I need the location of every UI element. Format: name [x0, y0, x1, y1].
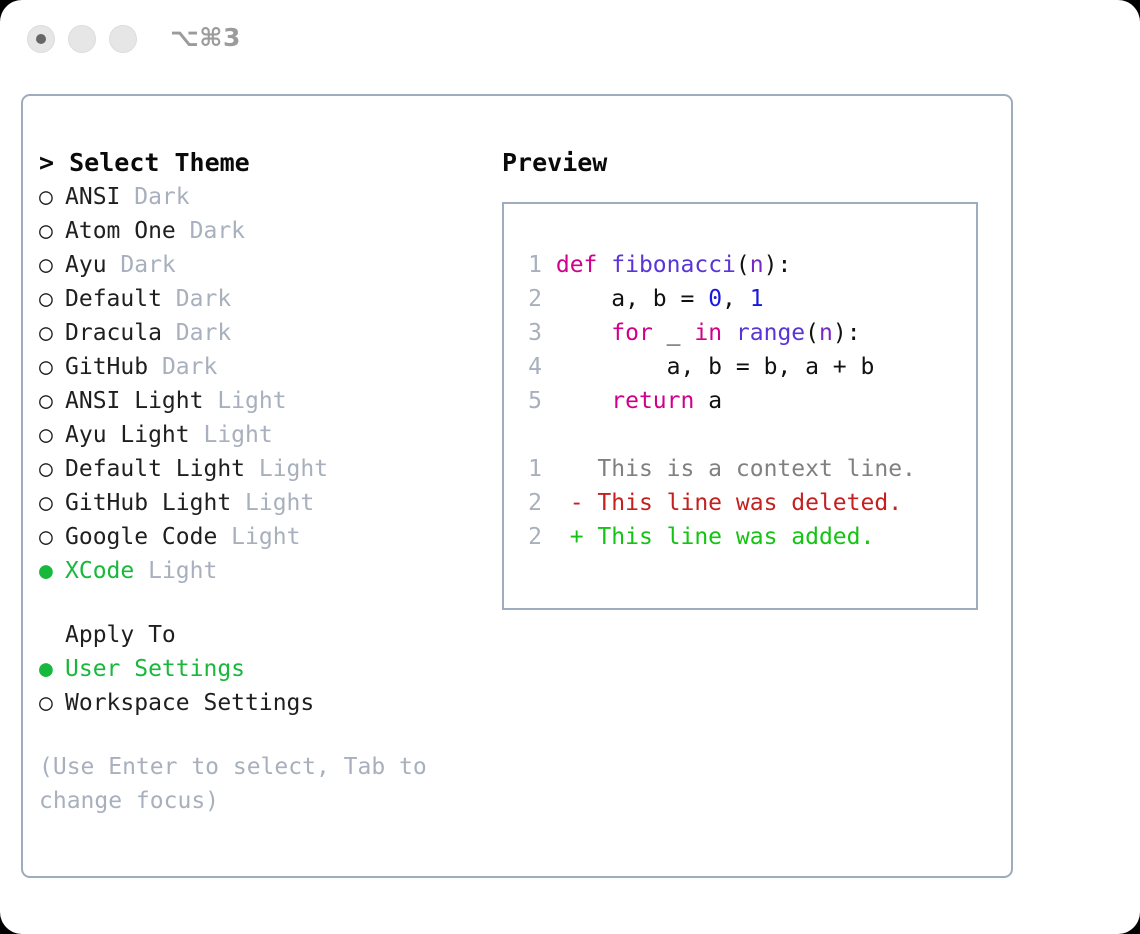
theme-option-default[interactable]: ○Default Dark	[39, 282, 499, 316]
diff-text: This line was added.	[597, 524, 874, 550]
gutter-space	[542, 524, 570, 550]
theme-option-label: Google Code	[65, 520, 217, 554]
radio-unselected-icon: ○	[39, 214, 65, 248]
theme-option-label: Atom One	[65, 214, 176, 248]
code-token: 0	[708, 286, 722, 312]
diff-text: This line was deleted.	[597, 490, 902, 516]
theme-option-xcode[interactable]: ●XCode Light	[39, 554, 499, 588]
theme-option-variant-tag: Light	[231, 486, 314, 520]
radio-selected-icon: ●	[39, 652, 65, 686]
theme-option-variant-tag: Light	[245, 452, 328, 486]
line-number: 1	[520, 452, 542, 486]
theme-option-variant-tag: Dark	[162, 316, 231, 350]
theme-option-label: ANSI	[65, 180, 120, 214]
theme-option-ansi[interactable]: ○ANSI Dark	[39, 180, 499, 214]
keyboard-hint: (Use Enter to select, Tab to change focu…	[39, 750, 439, 818]
radio-unselected-icon: ○	[39, 486, 65, 520]
window-controls	[27, 25, 137, 53]
code-token	[597, 252, 611, 278]
apply-to-option-label: Workspace Settings	[65, 686, 314, 720]
radio-unselected-icon: ○	[39, 384, 65, 418]
code-line: 5 return a	[520, 384, 970, 418]
diff-line-del: 2 - This line was deleted.	[520, 486, 970, 520]
theme-option-label: Ayu	[65, 248, 107, 282]
apply-to-option-user-settings[interactable]: ●User Settings	[39, 652, 499, 686]
heading-text: Select Theme	[69, 148, 250, 177]
radio-unselected-icon: ○	[39, 350, 65, 384]
keyboard-shortcut-label: ⌥⌘3	[170, 23, 241, 52]
theme-option-ansi-light[interactable]: ○ANSI Light Light	[39, 384, 499, 418]
code-line: 1 def fibonacci(n):	[520, 248, 970, 282]
code-line: 4 a, b = b, a + b	[520, 350, 970, 384]
code-token: ,	[722, 286, 750, 312]
code-token: return	[611, 388, 694, 414]
line-number: 1	[520, 248, 542, 282]
theme-option-variant-tag: Light	[203, 384, 286, 418]
window-button-close[interactable]	[27, 25, 55, 53]
apply-to-heading-indent: ○	[39, 618, 65, 652]
code-token: def	[556, 252, 598, 278]
theme-option-label: GitHub	[65, 350, 148, 384]
code-sample: 1 def fibonacci(n):2 a, b = 0, 13 for _ …	[520, 248, 970, 418]
apply-to-heading: ○Apply To	[39, 618, 499, 652]
code-token: range	[736, 320, 805, 346]
gutter-space	[542, 388, 556, 414]
preview-heading: Preview	[502, 146, 1002, 180]
theme-option-variant-tag: Light	[217, 520, 300, 554]
theme-option-label: XCode	[65, 554, 134, 588]
gutter-space	[542, 320, 556, 346]
theme-option-variant-tag: Dark	[120, 180, 189, 214]
window-button-maximize[interactable]	[109, 25, 137, 53]
line-number: 2	[520, 486, 542, 520]
theme-option-ayu[interactable]: ○Ayu Dark	[39, 248, 499, 282]
gutter-space	[542, 286, 556, 312]
theme-option-variant-tag: Dark	[148, 350, 217, 384]
theme-option-variant-tag: Dark	[162, 282, 231, 316]
code-token: for	[611, 320, 653, 346]
gutter-space	[542, 490, 570, 516]
code-line: 2 a, b = 0, 1	[520, 282, 970, 316]
theme-option-variant-tag: Light	[190, 418, 273, 452]
select-theme-heading: > Select Theme	[39, 146, 499, 180]
code-token	[722, 320, 736, 346]
diff-text: This is a context line.	[597, 456, 916, 482]
gutter-space	[542, 252, 556, 278]
code-token: n	[819, 320, 833, 346]
line-number: 2	[520, 282, 542, 316]
apply-to-option-label: User Settings	[65, 652, 245, 686]
code-diff-separator	[520, 418, 970, 452]
app-window: ⌥⌘3 > Select Theme ○ANSI Dark○Atom One D…	[0, 0, 1140, 934]
gutter-space	[542, 456, 570, 482]
apply-to-list: ●User Settings○Workspace Settings	[39, 652, 499, 720]
theme-option-default-light[interactable]: ○Default Light Light	[39, 452, 499, 486]
theme-option-label: ANSI Light	[65, 384, 203, 418]
code-line: 3 for _ in range(n):	[520, 316, 970, 350]
window-button-close-dot	[36, 34, 46, 44]
preview-column: Preview 1 def fibonacci(n):2 a, b = 0, 1…	[502, 146, 1002, 610]
theme-option-label: Default	[65, 282, 162, 316]
code-token: a, b =	[556, 286, 708, 312]
theme-option-atom-one[interactable]: ○Atom One Dark	[39, 214, 499, 248]
theme-list: ○ANSI Dark○Atom One Dark○Ayu Dark○Defaul…	[39, 180, 499, 588]
line-number: 2	[520, 520, 542, 554]
theme-selector-column: > Select Theme ○ANSI Dark○Atom One Dark○…	[39, 146, 499, 818]
theme-option-ayu-light[interactable]: ○Ayu Light Light	[39, 418, 499, 452]
theme-option-label: GitHub Light	[65, 486, 231, 520]
code-token	[556, 388, 611, 414]
spacer	[39, 588, 499, 618]
code-token: (	[736, 252, 750, 278]
theme-option-variant-tag: Dark	[176, 214, 245, 248]
code-token: _	[653, 320, 695, 346]
code-token: a, b = b, a + b	[556, 354, 875, 380]
code-token: 1	[750, 286, 764, 312]
theme-option-variant-tag: Light	[134, 554, 217, 588]
titlebar: ⌥⌘3	[0, 0, 1140, 80]
theme-option-label: Default Light	[65, 452, 245, 486]
code-token: ):	[833, 320, 861, 346]
radio-unselected-icon: ○	[39, 452, 65, 486]
theme-option-github[interactable]: ○GitHub Dark	[39, 350, 499, 384]
code-token: a	[694, 388, 722, 414]
theme-option-github-light[interactable]: ○GitHub Light Light	[39, 486, 499, 520]
line-number: 4	[520, 350, 542, 384]
code-token: fibonacci	[611, 252, 736, 278]
apply-to-heading-label: Apply To	[65, 618, 176, 652]
radio-unselected-icon: ○	[39, 520, 65, 554]
main-panel: > Select Theme ○ANSI Dark○Atom One Dark○…	[21, 94, 1013, 878]
preview-code-area: 1 def fibonacci(n):2 a, b = 0, 13 for _ …	[520, 248, 970, 554]
line-number: 5	[520, 384, 542, 418]
radio-unselected-icon: ○	[39, 180, 65, 214]
diff-line-ctx: 1 This is a context line.	[520, 452, 970, 486]
heading-caret: >	[39, 148, 69, 177]
radio-unselected-icon: ○	[39, 418, 65, 452]
radio-unselected-icon: ○	[39, 282, 65, 316]
radio-selected-icon: ●	[39, 554, 65, 588]
code-token: (	[805, 320, 819, 346]
preview-box: 1 def fibonacci(n):2 a, b = 0, 13 for _ …	[502, 202, 978, 610]
code-token	[556, 320, 611, 346]
line-number: 3	[520, 316, 542, 350]
diff-line-add: 2 + This line was added.	[520, 520, 970, 554]
diff-marker: -	[570, 490, 598, 516]
code-token: in	[694, 320, 722, 346]
diff-marker: +	[570, 524, 598, 550]
code-token: n	[750, 252, 764, 278]
radio-unselected-icon: ○	[39, 248, 65, 282]
window-button-minimize[interactable]	[68, 25, 96, 53]
gutter-space	[542, 354, 556, 380]
theme-option-google-code[interactable]: ○Google Code Light	[39, 520, 499, 554]
theme-option-label: Dracula	[65, 316, 162, 350]
theme-option-variant-tag: Dark	[107, 248, 176, 282]
theme-option-dracula[interactable]: ○Dracula Dark	[39, 316, 499, 350]
radio-unselected-icon: ○	[39, 686, 65, 720]
diff-sample: 1 This is a context line.2 - This line w…	[520, 452, 970, 554]
radio-unselected-icon: ○	[39, 316, 65, 350]
diff-marker	[570, 456, 598, 482]
apply-to-option-workspace-settings[interactable]: ○Workspace Settings	[39, 686, 499, 720]
theme-option-label: Ayu Light	[65, 418, 190, 452]
code-token: ):	[764, 252, 792, 278]
